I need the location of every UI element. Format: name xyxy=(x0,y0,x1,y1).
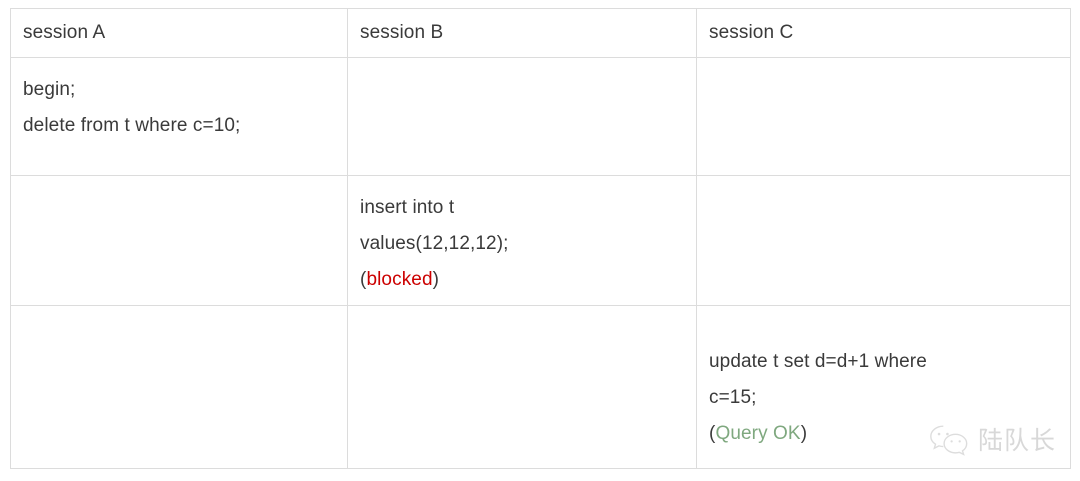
cell-session-b-step-1 xyxy=(348,58,697,176)
table-header-row: session A session B session C xyxy=(11,9,1071,58)
status-line-blocked: (blocked) xyxy=(360,262,684,298)
table-row: begin; delete from t where c=10; xyxy=(11,58,1071,176)
cell-session-b-step-2: insert into t values(12,12,12); (blocked… xyxy=(348,176,697,306)
column-header-session-c: session C xyxy=(697,9,1071,58)
statement-line: values(12,12,12); xyxy=(360,226,684,262)
statement-line: delete from t where c=10; xyxy=(23,108,335,144)
column-header-label: session A xyxy=(11,9,347,57)
cell-session-a-step-3 xyxy=(11,306,348,469)
cell-session-c-step-2 xyxy=(697,176,1071,306)
statement-line: begin; xyxy=(23,72,335,108)
status-token-query-ok: Query OK xyxy=(715,423,800,444)
cell-content: update t set d=d+1 where c=15; (Query OK… xyxy=(697,306,1070,460)
table-row: insert into t values(12,12,12); (blocked… xyxy=(11,176,1071,306)
cell-session-c-step-3: update t set d=d+1 where c=15; (Query OK… xyxy=(697,306,1071,469)
cell-content: begin; delete from t where c=10; xyxy=(11,58,347,144)
table-row: update t set d=d+1 where c=15; (Query OK… xyxy=(11,306,1071,469)
page-root: session A session B session C begin; del… xyxy=(0,0,1080,481)
status-token-blocked: blocked xyxy=(366,269,432,290)
status-line-query-ok: (Query OK) xyxy=(709,416,1058,452)
cell-session-b-step-3 xyxy=(348,306,697,469)
column-header-label: session C xyxy=(697,9,1070,57)
paren-close: ) xyxy=(433,269,439,290)
column-header-label: session B xyxy=(348,9,696,57)
cell-session-a-step-1: begin; delete from t where c=10; xyxy=(11,58,348,176)
statement-line: update t set d=d+1 where xyxy=(709,344,1058,380)
paren-close: ) xyxy=(801,423,807,444)
cell-session-a-step-2 xyxy=(11,176,348,306)
column-header-session-b: session B xyxy=(348,9,697,58)
column-header-session-a: session A xyxy=(11,9,348,58)
statement-line: c=15; xyxy=(709,380,1058,416)
cell-content: insert into t values(12,12,12); (blocked… xyxy=(348,176,696,298)
cell-session-c-step-1 xyxy=(697,58,1071,176)
session-comparison-table: session A session B session C begin; del… xyxy=(10,8,1071,469)
statement-line: insert into t xyxy=(360,190,684,226)
